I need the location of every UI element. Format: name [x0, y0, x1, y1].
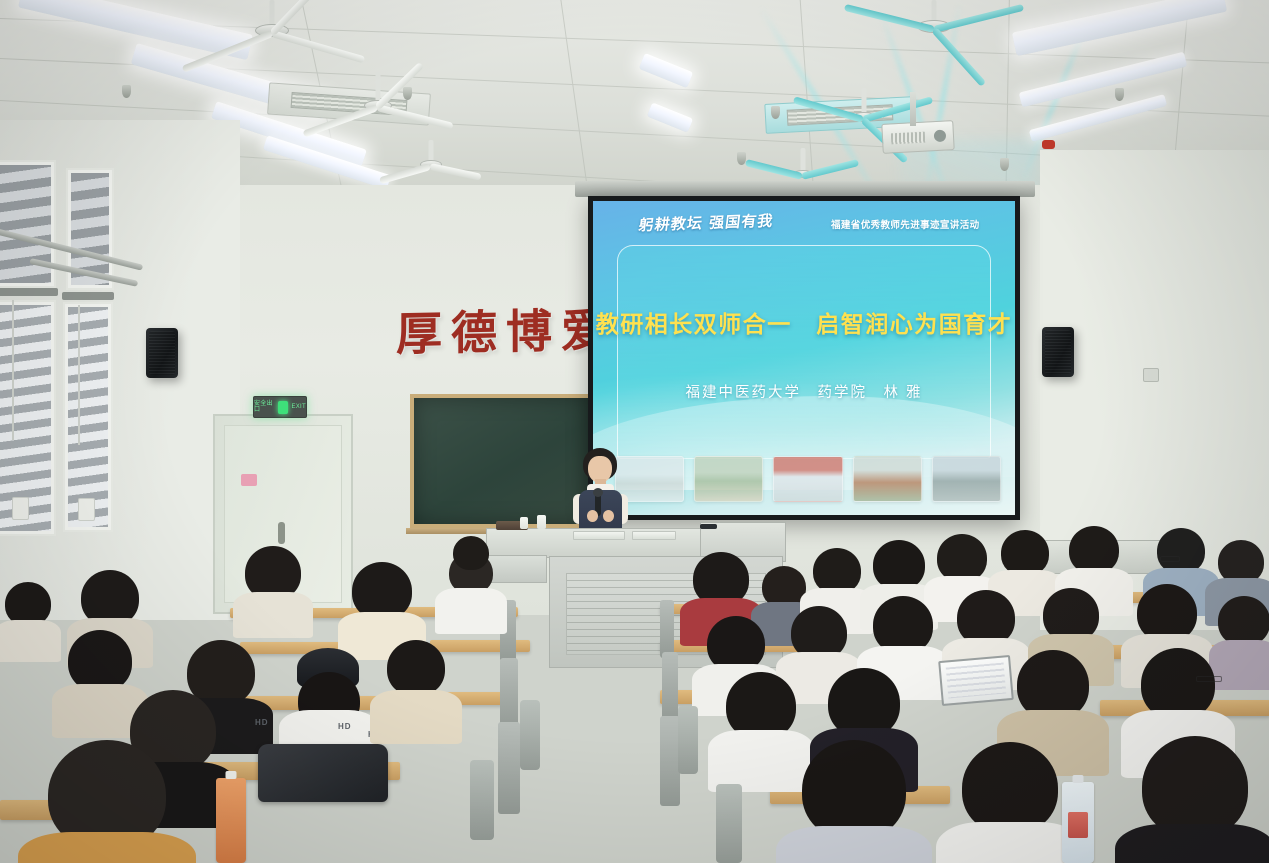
desk-end-panel: [660, 600, 674, 658]
person-body: [776, 826, 932, 863]
person-body: [370, 690, 462, 744]
presenter-right-hand: [603, 510, 614, 522]
emergency-exit-sign: 安全出口 EXIT: [253, 396, 307, 418]
bottle-label: [1068, 812, 1088, 838]
bottle-cap: [1073, 775, 1084, 783]
wall-mount-bracket: [1143, 368, 1159, 382]
campus-photo-3: [773, 456, 842, 502]
audience-person: [1212, 540, 1269, 600]
slide-subtitle: 福建中医药大学 药学院 林 雅: [593, 381, 1015, 402]
audience-person: [32, 740, 182, 863]
slide-title: 教研相长双师合一 启智润心为国育才: [593, 305, 1015, 339]
power-outlet[interactable]: [12, 497, 29, 520]
jacket-logo: HD: [255, 718, 269, 727]
ceiling-fan: [363, 72, 393, 118]
person-head: [937, 534, 987, 582]
projector-mount: [910, 92, 916, 126]
audience-person: [0, 582, 56, 642]
blind-cord: [12, 300, 14, 440]
person-head: [1142, 736, 1248, 838]
screen-roller-housing: [575, 181, 1035, 197]
audience-person: [1218, 596, 1269, 666]
audience-person: [994, 530, 1056, 592]
person-head: [873, 540, 925, 590]
person-body: [233, 592, 313, 638]
podium-cup: [520, 517, 528, 529]
slide-header-calligraphy: 躬耕教坛 强国有我: [637, 210, 774, 236]
campus-photo-2: [694, 456, 763, 502]
person-head: [1218, 596, 1269, 646]
person-body: [435, 588, 507, 634]
blind-rail: [0, 288, 58, 296]
desk-end-panel: [498, 722, 520, 814]
person-head: [802, 740, 906, 840]
person-head: [453, 536, 489, 570]
sprinkler-head: [122, 85, 131, 98]
exit-sign-left-label: 安全出口: [254, 401, 275, 413]
person-body: [1115, 824, 1269, 863]
wall-calligraphy: 厚德博爱: [396, 294, 616, 365]
person-head: [387, 640, 445, 696]
audience-person: [790, 740, 918, 863]
audience-person: [866, 596, 940, 672]
right-wall-speaker: [1042, 327, 1074, 377]
exit-sign-right-label: EXIT: [291, 404, 306, 410]
audience-person: [378, 640, 454, 720]
door-handle[interactable]: [278, 522, 285, 544]
open-laptop[interactable]: [938, 655, 1014, 706]
lecture-hall-photo: 安全出口 EXIT 厚德博爱 躬耕教坛 强国有我 福建省优秀教师先进事迹宣讲活动…: [0, 0, 1269, 863]
podium-cup: [537, 515, 546, 529]
window: [0, 160, 56, 288]
slide-header: 躬耕教坛 强国有我 福建省优秀教师先进事迹宣讲活动: [593, 206, 1015, 236]
ceiling-fan: [851, 88, 877, 128]
sprinkler-head: [1000, 158, 1009, 171]
black-backpack: [258, 744, 388, 802]
ceiling-fan: [255, 0, 289, 44]
audience-person: [1062, 526, 1126, 590]
podium-control-strip: [632, 531, 676, 540]
audience-person: [686, 552, 756, 622]
projector: [881, 120, 954, 154]
left-wall-speaker: [146, 328, 178, 378]
projection-screen: 躬耕教坛 强国有我 福建省优秀教师先进事迹宣讲活动 教研相长双师合一 启智润心为…: [588, 196, 1020, 520]
podium-remote[interactable]: [700, 524, 717, 529]
audience-person: [930, 534, 994, 598]
desk-end-panel: [660, 716, 680, 806]
sprinkler-head: [1115, 88, 1124, 101]
jacket-logo: HD: [338, 722, 352, 731]
seat-back: [678, 706, 698, 774]
sprinkler-head: [737, 152, 746, 165]
person-body: [0, 620, 61, 662]
campus-photo-4: [853, 456, 922, 502]
podium-control-strip: [573, 531, 625, 540]
microphone-head: [593, 488, 603, 497]
slide-content: 躬耕教坛 强国有我 福建省优秀教师先进事迹宣讲活动 教研相长双师合一 启智润心为…: [593, 201, 1015, 515]
sprinkler-head: [771, 106, 780, 119]
audience-person: [446, 536, 496, 586]
power-outlet[interactable]: [78, 498, 95, 521]
person-body: [18, 832, 196, 863]
audience-person: [1130, 736, 1260, 863]
person-head: [962, 742, 1058, 834]
eyeglasses: [1196, 676, 1222, 682]
desk-end-panel: [500, 658, 518, 730]
seat-back: [716, 784, 742, 863]
desk-end-panel: [662, 652, 678, 722]
blind-rail: [62, 292, 114, 300]
laptop-screen-content: [946, 663, 1006, 699]
audience-person: [238, 546, 308, 612]
seat-back: [520, 700, 540, 770]
slide-photo-strip: [615, 456, 1001, 502]
person-head: [68, 630, 132, 692]
audience-person: [1008, 650, 1098, 746]
campus-photo-5: [932, 456, 1001, 502]
running-man-icon: [278, 401, 288, 414]
sprinkler-head: [403, 87, 412, 100]
presenter-left-hand: [587, 510, 598, 522]
audience-person: [288, 648, 370, 730]
blind-cord: [78, 305, 80, 445]
audience-person: [950, 742, 1070, 863]
ceiling-fan: [419, 140, 443, 176]
audience-person: [1132, 648, 1224, 746]
audience-person: [345, 562, 419, 632]
ceiling-fan: [918, 0, 950, 40]
door-sticker: [241, 474, 257, 486]
person-head: [1069, 526, 1119, 574]
orange-tea-bottle: [216, 778, 246, 863]
eyeglasses: [1160, 556, 1180, 562]
seat-back: [470, 760, 494, 840]
bottle-cap: [226, 771, 237, 779]
slide-card: [617, 245, 991, 459]
audience-person: [806, 548, 868, 612]
fire-alarm-indicator: [1042, 140, 1055, 149]
slide-header-subtitle: 福建省优秀教师先进事迹宣讲活动: [831, 217, 980, 231]
